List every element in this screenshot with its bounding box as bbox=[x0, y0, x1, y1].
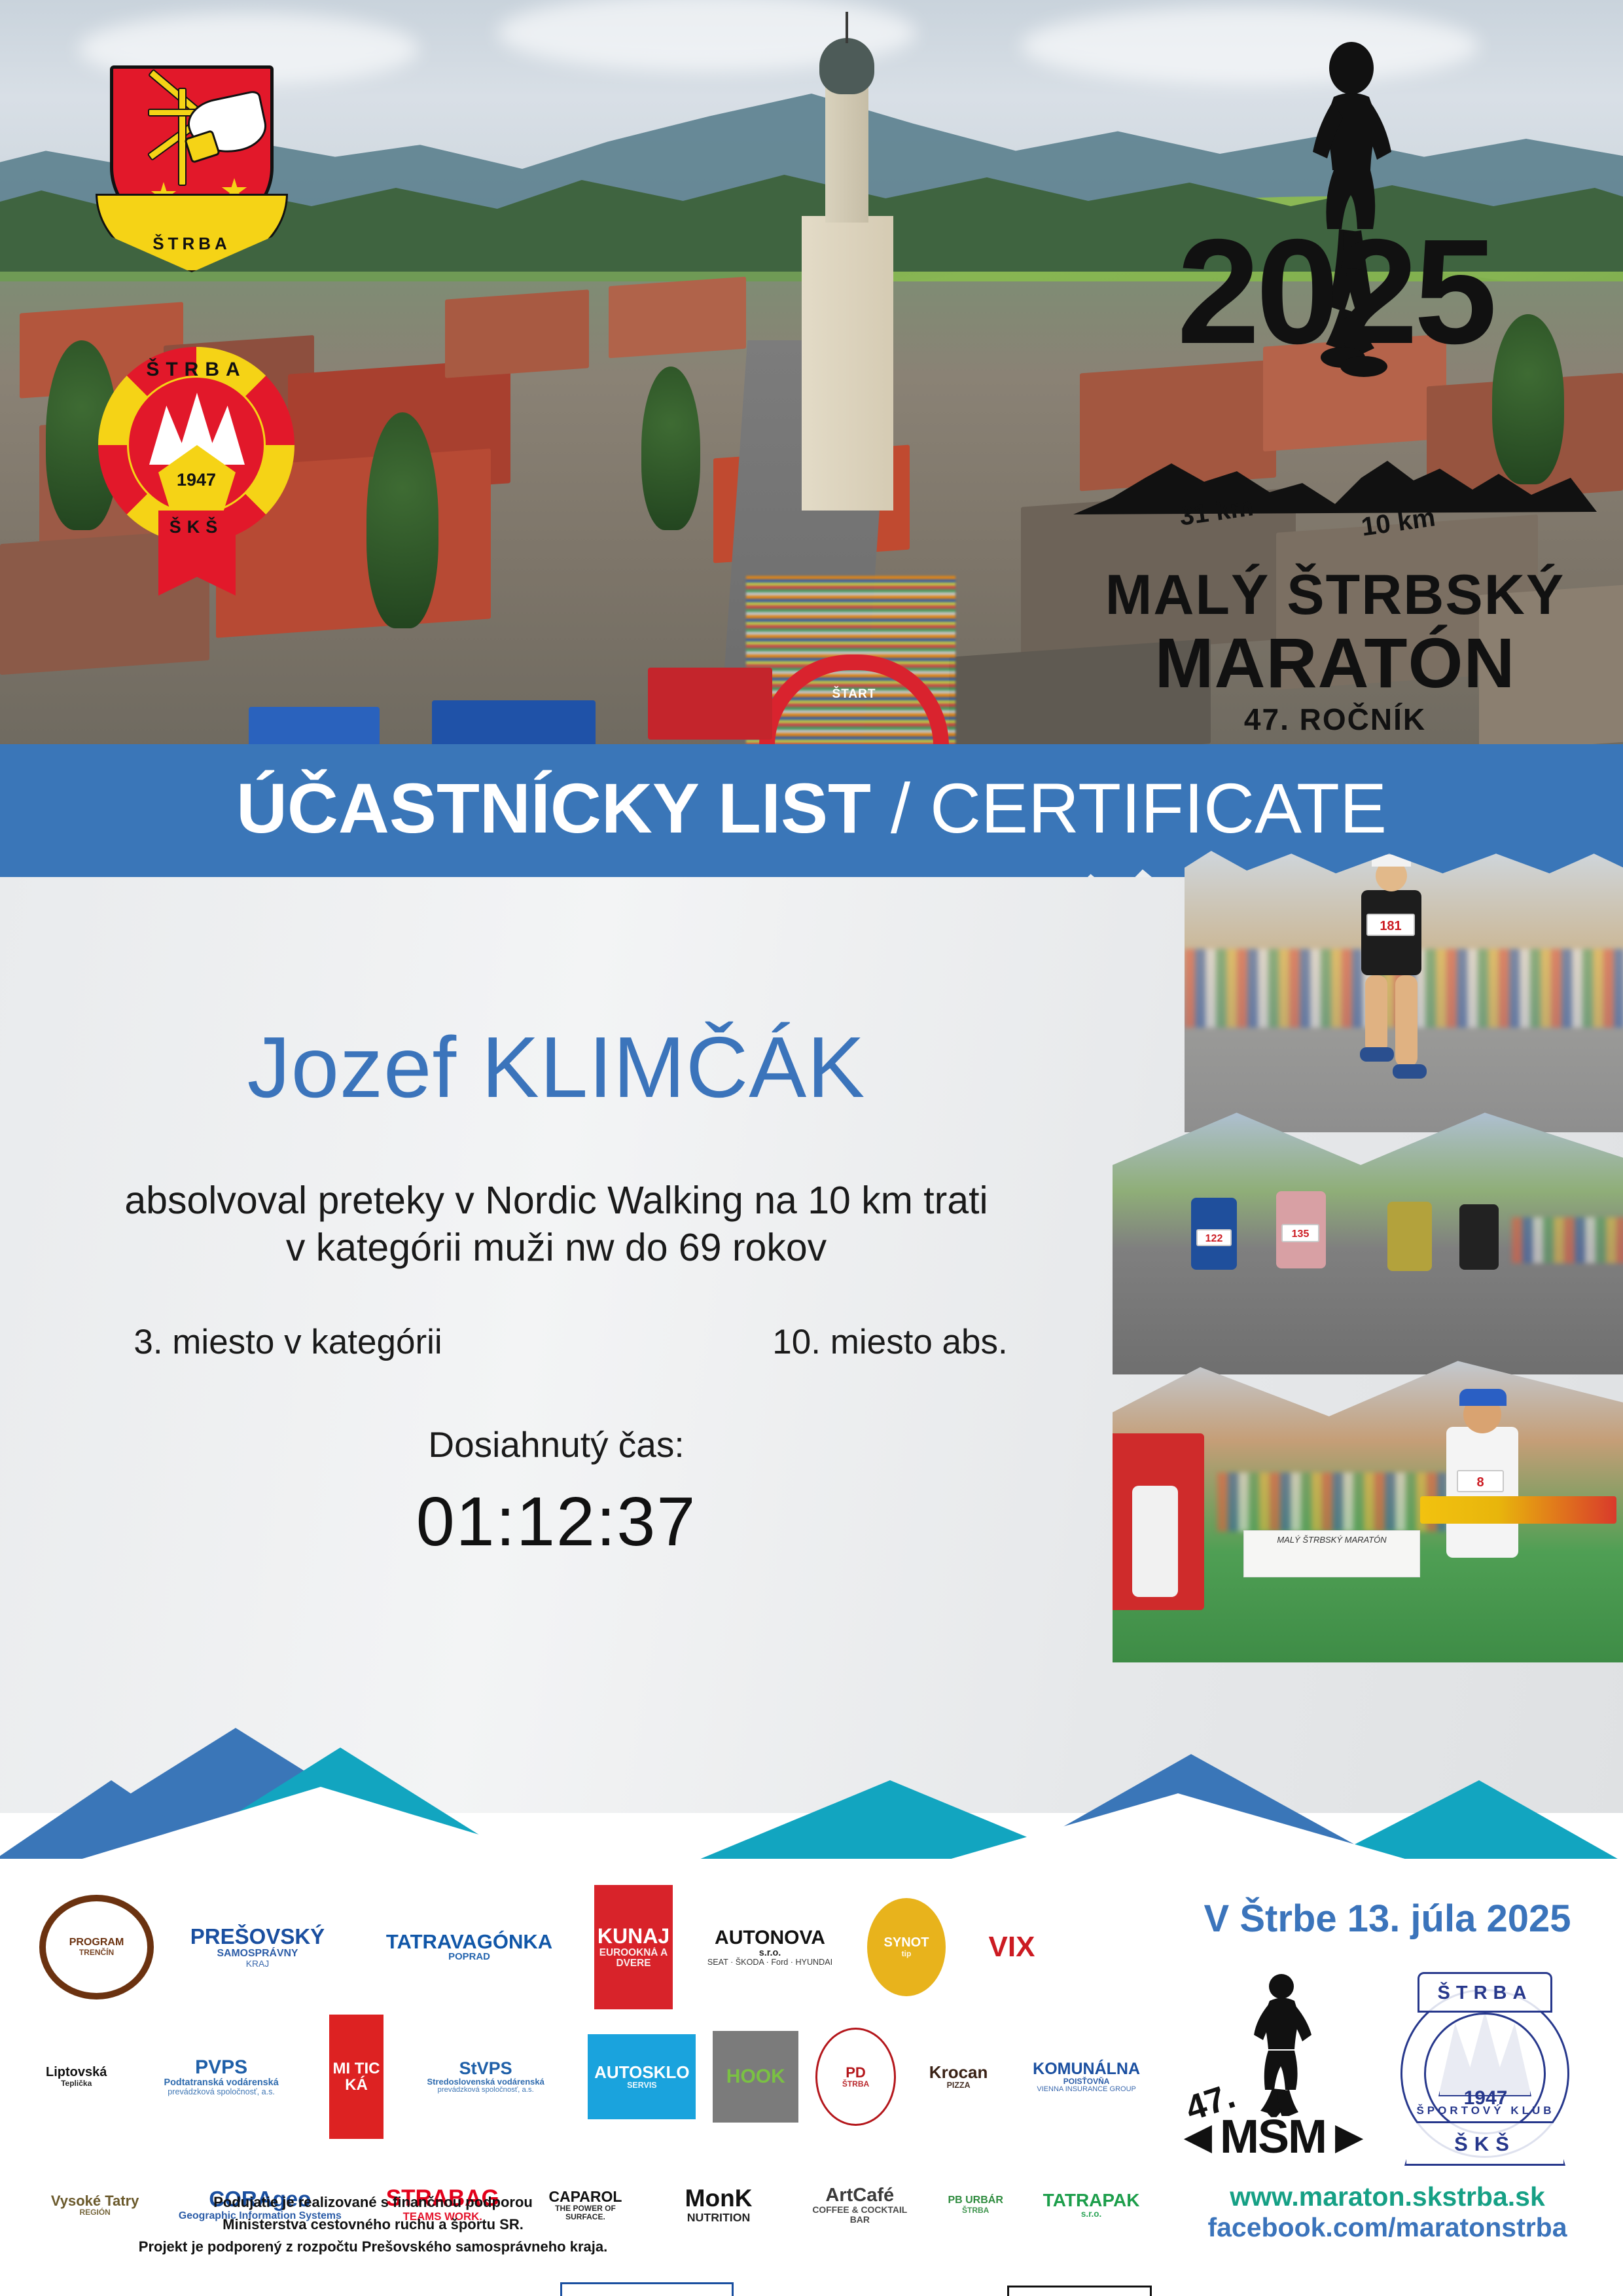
sponsor-label: s.r.o. bbox=[1081, 2210, 1101, 2219]
blue-tent bbox=[249, 707, 380, 746]
sponsor-label: EUROOKNÁ A DVERE bbox=[597, 1948, 670, 1969]
event-year: 2025 bbox=[1054, 229, 1616, 356]
sponsor-logo: PROGRAMTRENČÍN bbox=[39, 1895, 154, 2000]
sponsor-label: KUNAJ bbox=[597, 1926, 669, 1948]
sponsor-logo: StVPSStredoslovenská vodárenskáprevádzko… bbox=[401, 2024, 571, 2129]
sponsor-logo: MARTEKRestaurant bbox=[427, 2270, 543, 2296]
sks-arc-label: ŠPORTOVÝ KLUB bbox=[1387, 2104, 1584, 2117]
sponsor-label: prevádzková spoločnosť, a.s. bbox=[168, 2088, 275, 2096]
tree bbox=[366, 412, 438, 628]
finish-tape bbox=[1420, 1496, 1616, 1524]
rooftop bbox=[445, 289, 589, 378]
sponsor-label: HOOK bbox=[726, 2066, 785, 2087]
footer-right-column: V Štrbe 13. júla 2025 bbox=[1171, 1878, 1603, 2271]
certificate-title: ÚČASTNÍCKY LIST / CERTIFICATE bbox=[0, 773, 1623, 844]
runner-figure-icon bbox=[1241, 1972, 1319, 2116]
finish-banner: MALÝ ŠTRBSKÝ MARATÓN bbox=[1243, 1530, 1420, 1577]
mountain-ridge-icon bbox=[1073, 452, 1597, 524]
contact-links: www.maraton.skstrba.sk facebook.com/mara… bbox=[1171, 2181, 1603, 2243]
sponsor-label: ŠTRBA bbox=[842, 2080, 869, 2089]
certificate-title-en: / CERTIFICATE bbox=[871, 768, 1387, 848]
sponsor-label: SEAT · ŠKODA · Ford · HYUNDAI bbox=[707, 1958, 832, 1967]
crest-municipality-label: ŠTRBA bbox=[98, 234, 286, 254]
sponsor-logo: VIX bbox=[963, 1898, 1061, 1996]
sponsor-label: POISŤOVŇA bbox=[1063, 2077, 1110, 2086]
sponsor-logo: PREŠOVSKÝSAMOSPRÁVNYKRAJ bbox=[171, 1898, 344, 1996]
sponsor-logo: KOMUNÁLNAPOISŤOVŇAVIENNA INSURANCE GROUP bbox=[1021, 2028, 1152, 2126]
certificate-page: ŠTRBA ŠTRBA 1947 ŠKŠ bbox=[0, 0, 1623, 2296]
sponsor-label: PB URBÁR bbox=[948, 2195, 1003, 2206]
sponsor-label: AUTONOVA bbox=[715, 1928, 825, 1948]
sponsor-logo: AUTOSKLOSERVIS bbox=[588, 2034, 696, 2119]
sponsor-logo: LiptovskáTeplička bbox=[39, 2020, 113, 2134]
sponsor-label: MI TIC KÁ bbox=[332, 2060, 381, 2093]
msm-emblem: 47. ◄MŠM► bbox=[1185, 1972, 1361, 2168]
photo-finish-woman: 181 bbox=[1185, 851, 1623, 1132]
sponsor-logo: TATRAPAKs.r.o. bbox=[1031, 2162, 1152, 2248]
sks-bottom-label: ŠKŠ bbox=[1404, 2121, 1565, 2166]
finish-time-label: Dosiahnutý čas: bbox=[0, 1424, 1113, 1465]
bib-number: 135 bbox=[1281, 1224, 1319, 1242]
sponsor-footer: PROGRAMTRENČÍNPREŠOVSKÝSAMOSPRÁVNYKRAJTA… bbox=[0, 1859, 1623, 2296]
sponsor-label: PVPS bbox=[195, 2057, 247, 2078]
bib-number: 122 bbox=[1196, 1229, 1232, 1246]
running-shoe bbox=[1360, 1047, 1394, 1062]
sponsor-logo: TATRAVAGÓNKAPOPRAD bbox=[361, 1898, 577, 1996]
sponsor-label: ArtCafé bbox=[825, 2185, 894, 2205]
sponsor-label: s.r.o. bbox=[759, 1948, 781, 1958]
certificate-title-sk: ÚČASTNÍCKY LIST bbox=[236, 768, 871, 848]
sponsor-row: LiptovskáTepličkaPVPSPodtatranská vodáre… bbox=[39, 2015, 1152, 2139]
athlete-leg bbox=[1365, 975, 1387, 1054]
sponsor-label: Liptovská bbox=[46, 2066, 107, 2079]
cross-staff bbox=[178, 88, 187, 186]
sponsor-row: MINISTERSTVOCESTOVNÉHO RUCHUA ŠPORTUSLOV… bbox=[39, 2270, 1152, 2296]
sponsor-label: AUTOSKLO bbox=[594, 2064, 689, 2081]
sponsor-label: KRAJ bbox=[246, 1959, 269, 1969]
event-edition: 47. ROČNÍK bbox=[1054, 702, 1616, 737]
blue-tent bbox=[432, 700, 596, 746]
sponsor-label: SYNOT bbox=[884, 1936, 929, 1950]
sponsor-logo: HOOK bbox=[713, 2031, 798, 2123]
club-logo-top-label: ŠTRBA bbox=[98, 359, 294, 381]
church-building bbox=[802, 216, 893, 511]
photo-finish-male-winner: MALÝ ŠTRBSKÝ MARATÓN 8 bbox=[1113, 1355, 1623, 1662]
sponsor-label: TATRAPAK bbox=[1043, 2191, 1140, 2210]
sponsor-label: VIX bbox=[989, 1932, 1035, 1962]
website-link[interactable]: www.maraton.skstrba.sk bbox=[1171, 2181, 1603, 2212]
red-tent bbox=[648, 668, 772, 740]
event-title-line1: MALÝ ŠTRBSKÝ bbox=[1054, 563, 1616, 628]
church-spire bbox=[825, 85, 868, 223]
runner-pack-blur bbox=[1512, 1217, 1623, 1263]
sponsor-label: SERVIS bbox=[627, 2081, 657, 2090]
sponsor-logo: MINISTERSTVOCESTOVNÉHO RUCHUA ŠPORTUSLOV… bbox=[39, 2272, 232, 2296]
strba-coat-of-arms: ŠTRBA bbox=[110, 65, 274, 281]
name-ribbon: ŠTRBA bbox=[96, 194, 288, 272]
sponsor-logo: kmmotocentrum bbox=[751, 2282, 870, 2296]
sponsor-label: KOMUNÁLNA bbox=[1033, 2060, 1140, 2077]
event-logo: 2025 31 km 10 km MALÝ ŠTRBSKÝ MARATÓN 47… bbox=[1054, 39, 1616, 700]
photo-runners-on-road: 122 135 bbox=[1113, 1113, 1623, 1374]
sponsor-label: Podtatranská vodárenská bbox=[164, 2078, 279, 2088]
sponsor-label: prevádzková spoločnosť, a.s. bbox=[438, 2087, 534, 2094]
funding-disclaimer: Podujatie je realizované s finančnou pod… bbox=[46, 2191, 700, 2258]
description-line-1: absolvoval preteky v Nordic Walking na 1… bbox=[0, 1178, 1113, 1223]
sponsor-label: TRENČÍN bbox=[79, 1948, 114, 1957]
sponsor-logo: KONDULIAKAUTOSLUŽBY bbox=[1007, 2286, 1152, 2296]
certificate-body: Jozef KLIMČÁK absolvoval preteky v Nordi… bbox=[0, 877, 1623, 1813]
absolute-placement: 10. miesto abs. bbox=[707, 1322, 1073, 1362]
athlete-torso bbox=[1387, 1202, 1432, 1271]
sponsor-label: TATRAVAGÓNKA bbox=[386, 1931, 552, 1953]
sponsor-label: COFFEE & COCKTAIL BAR bbox=[802, 2205, 918, 2224]
running-shoe bbox=[1393, 1064, 1427, 1079]
bib-number: 8 bbox=[1457, 1470, 1504, 1492]
sponsor-label: PROGRAM bbox=[69, 1937, 124, 1948]
sponsor-logo: ArtCaféCOFFEE & COCKTAIL BAR bbox=[799, 2153, 920, 2257]
sks-club-logo: ŠTRBA 1947 ŠKŠ bbox=[98, 321, 294, 596]
sponsor-label: PREŠOVSKÝ bbox=[190, 1926, 325, 1948]
sponsor-label: POPRAD bbox=[448, 1952, 490, 1963]
headband bbox=[1459, 1389, 1507, 1406]
finish-time-value: 01:12:37 bbox=[0, 1482, 1113, 1562]
tree bbox=[641, 367, 700, 530]
sponsor-logo: PVPSPodtatranská vodárenskáprevádzková s… bbox=[130, 2028, 312, 2126]
sponsor-label: SAMOSPRÁVNY bbox=[217, 1948, 298, 1960]
msm-wordmark: ◄MŠM► bbox=[1185, 2107, 1361, 2167]
footer-emblems: 47. ◄MŠM► ŠTRBA 1947 ŠPORTOVÝ KLUB ŠKŠ bbox=[1171, 1959, 1603, 2175]
sks-top-label: ŠTRBA bbox=[1418, 1972, 1552, 2013]
event-title-line2: MARATÓN bbox=[1054, 622, 1616, 704]
club-logo-bottom-label: ŠKŠ bbox=[98, 517, 294, 537]
sponsor-label: tip bbox=[902, 1950, 912, 1958]
sponsor-label: ŠTRBA bbox=[962, 2206, 989, 2215]
sponsor-logo: SYNOTtip bbox=[867, 1898, 946, 1996]
disclaimer-line-1: Podujatie je realizované s finančnou pod… bbox=[46, 2191, 700, 2214]
sponsor-logo: noow bbox=[887, 2287, 990, 2296]
photo-collage: 181 122 135 MALÝ ŠTRBSKÝ MARATÓN bbox=[1113, 851, 1623, 1669]
sponsor-logo: KrocanPIZZA bbox=[913, 2028, 1004, 2126]
club-logo-year: 1947 bbox=[98, 470, 294, 490]
sponsor-logo: PB URBÁRŠTRBA bbox=[937, 2147, 1014, 2262]
sponsor-row: PROGRAMTRENČÍNPREŠOVSKÝSAMOSPRÁVNYKRAJTA… bbox=[39, 1885, 1152, 2009]
sks-stamp-emblem: ŠTRBA 1947 ŠPORTOVÝ KLUB ŠKŠ bbox=[1387, 1965, 1584, 2168]
sponsor-label: PD bbox=[846, 2065, 866, 2080]
sponsor-logo: DOPRAVNÉZNAČENIEPOPRAD s.r.o. bbox=[560, 2282, 734, 2296]
disclaimer-line-2: Ministerstva cestovného ruchu a športu S… bbox=[46, 2214, 700, 2236]
sponsor-label: Stredoslovenská vodárenská bbox=[427, 2077, 544, 2087]
sponsor-label: VIENNA INSURANCE GROUP bbox=[1037, 2086, 1136, 2094]
facebook-link[interactable]: facebook.com/maratonstrba bbox=[1171, 2212, 1603, 2243]
issue-date: V Štrbe 13. júla 2025 bbox=[1171, 1897, 1603, 1941]
bib-number: 181 bbox=[1366, 914, 1415, 936]
athlete-leg bbox=[1395, 975, 1418, 1067]
sponsor-label: Teplička bbox=[61, 2079, 92, 2088]
sponsor-label: StVPS bbox=[459, 2059, 512, 2077]
folk-costume-girl bbox=[1132, 1486, 1178, 1597]
rooftop bbox=[609, 277, 746, 359]
sponsor-label: Krocan bbox=[929, 2064, 988, 2081]
sponsor-logo: AUTONOVAs.r.o.SEAT · ŠKODA · Ford · HYUN… bbox=[690, 1885, 850, 2009]
sponsor-logo: MI TIC KÁ bbox=[329, 2015, 383, 2139]
description-line-2: v kategórii muži nw do 69 rokov bbox=[0, 1225, 1113, 1270]
sponsor-logo: PDŠTRBA bbox=[815, 2028, 896, 2126]
sponsor-logo: KUNAJEUROOKNÁ A DVERE bbox=[594, 1885, 673, 2009]
hero-photo-strba-village: ŠTRBA ŠTRBA 1947 ŠKŠ bbox=[0, 0, 1623, 746]
category-placement: 3. miesto v kategórii bbox=[92, 1322, 484, 1362]
athlete-name: Jozef KLIMČÁK bbox=[0, 1018, 1113, 1117]
disclaimer-line-3: Projekt je podporený z rozpočtu Prešovsk… bbox=[46, 2236, 700, 2258]
sponsor-label: PIZZA bbox=[947, 2081, 971, 2090]
visor-cap bbox=[1372, 855, 1411, 867]
athlete-torso bbox=[1459, 1204, 1499, 1270]
sponsor-logo: SporTcooLSPORTSWEAR bbox=[249, 2282, 410, 2296]
